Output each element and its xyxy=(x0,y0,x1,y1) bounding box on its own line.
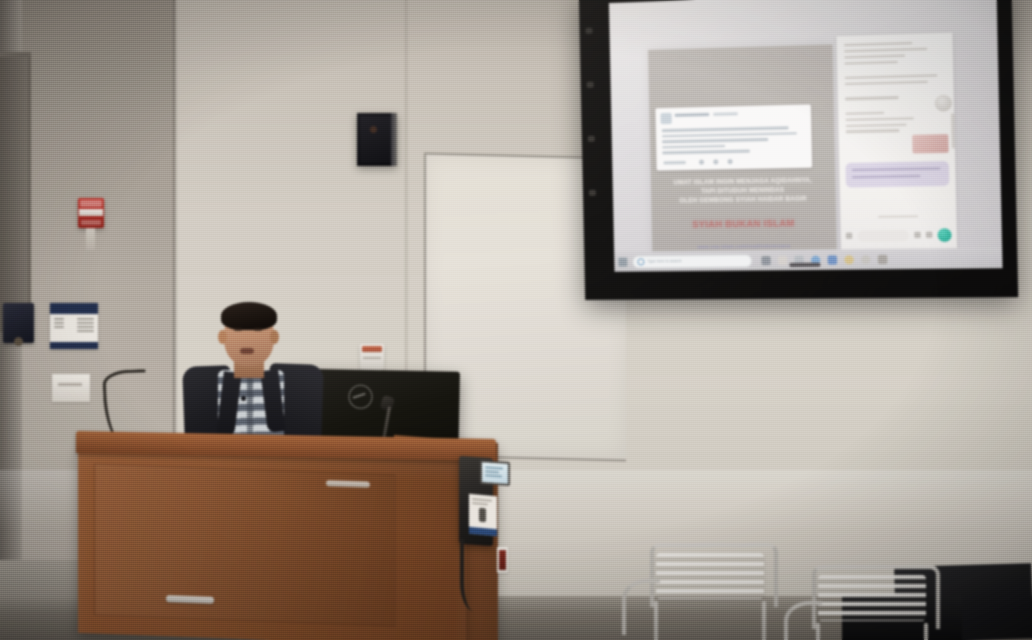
speaker-bracket xyxy=(391,113,397,166)
door-frame-header xyxy=(0,52,30,57)
task-view-icon[interactable] xyxy=(761,256,770,265)
light-switch-plate[interactable] xyxy=(52,374,90,402)
chair-back-slats xyxy=(818,575,926,621)
avatar xyxy=(660,113,671,124)
lavalier-mic-icon xyxy=(241,396,246,401)
post-timestamp xyxy=(664,161,686,164)
device-knob-icon xyxy=(14,337,23,346)
eye-left xyxy=(234,328,242,331)
post-author-name xyxy=(675,113,710,117)
projection-screen: UMAT ISLAM INGIN MENJAGA AQIDAHNYA, TAPI… xyxy=(579,0,1018,300)
chat-message-input[interactable] xyxy=(857,229,909,241)
screen-mount-clip xyxy=(588,136,595,142)
switch-rocker-icon xyxy=(58,383,82,386)
post-body-text xyxy=(662,126,804,154)
app-icon[interactable] xyxy=(861,254,871,263)
post-author-handle xyxy=(713,112,738,116)
attach-icon[interactable] xyxy=(914,232,920,238)
search-icon xyxy=(637,258,644,265)
fire-alarm-top-label xyxy=(80,200,102,207)
fire-alarm-pull-bar xyxy=(79,209,103,216)
wooden-lectern xyxy=(76,435,496,640)
projected-slide: UMAT ISLAM INGIN MENJAGA AQIDAHNYA, TAPI… xyxy=(648,44,837,259)
sign-header-bar xyxy=(50,303,98,314)
chat-scrollbar[interactable] xyxy=(951,113,955,148)
windows-taskbar[interactable]: Type here to search xyxy=(614,247,1002,271)
desk-equipment-box xyxy=(360,344,384,370)
taskbar-icon-strip[interactable] xyxy=(761,254,887,264)
sign-column-right xyxy=(77,318,94,339)
contact-avatar xyxy=(935,95,952,112)
chair-leg xyxy=(924,623,928,640)
sign-column-left xyxy=(54,318,71,339)
store-icon[interactable] xyxy=(828,255,838,264)
equipment-seam xyxy=(363,357,381,359)
presentation-room-photo: UMAT ISLAM INGIN MENJAGA AQIDAHNYA, TAPI… xyxy=(0,0,1032,640)
screen-mount-clip xyxy=(589,190,596,196)
speaker-grille xyxy=(360,116,391,163)
social-post-card xyxy=(655,104,812,170)
fire-alarm-bottom-label xyxy=(81,220,101,225)
chat-message-list xyxy=(844,41,944,133)
like-icon xyxy=(727,159,732,164)
lcd-touch-panel[interactable] xyxy=(480,460,510,486)
fire-alarm-pull-station-icon[interactable] xyxy=(78,198,104,228)
sign-footer-bar xyxy=(50,342,98,349)
post-action-row xyxy=(663,159,732,165)
slide-caption: UMAT ISLAM INGIN MENJAGA AQIDAHNYA, TAPI… xyxy=(653,176,834,206)
sign-text-rows xyxy=(54,318,94,339)
equipment-top-label xyxy=(362,346,382,352)
search-placeholder: Type here to search xyxy=(647,259,681,263)
chat-app-panel xyxy=(836,33,957,252)
ear-right xyxy=(270,330,279,344)
retweet-icon xyxy=(713,159,718,164)
screen-surface: UMAT ISLAM INGIN MENJAGA AQIDAHNYA, TAPI… xyxy=(609,0,1003,272)
camera-icon[interactable] xyxy=(926,232,933,238)
folder-icon[interactable] xyxy=(778,255,787,264)
taskbar-search-input[interactable]: Type here to search xyxy=(632,254,752,268)
chrome-icon[interactable] xyxy=(844,255,854,264)
instructions-placard xyxy=(469,494,497,536)
speaker-indicator-icon xyxy=(370,126,377,133)
image-attachment[interactable] xyxy=(912,134,948,153)
mouth xyxy=(240,348,254,354)
chat-message-bubble xyxy=(845,161,949,188)
emoji-icon[interactable] xyxy=(846,233,852,239)
fire-alarm-conduit xyxy=(86,228,95,250)
start-button-icon[interactable] xyxy=(618,257,627,266)
placard-diagram-icon xyxy=(479,508,486,523)
chair-leg xyxy=(816,623,820,640)
pinned-icon[interactable] xyxy=(878,254,888,263)
door-frame xyxy=(0,52,31,332)
ceiling-speaker xyxy=(357,113,397,166)
screen-mount-clip xyxy=(585,28,592,34)
hair xyxy=(221,302,277,330)
chair-leg xyxy=(762,601,766,640)
ear-left xyxy=(218,330,227,344)
wall-mounted-device[interactable] xyxy=(3,303,34,343)
chair-leg xyxy=(654,601,658,640)
chat-input-row[interactable] xyxy=(846,225,952,245)
chair-back-slats xyxy=(656,553,764,599)
chat-date-divider xyxy=(878,215,918,218)
red-power-outlet[interactable] xyxy=(497,547,508,573)
send-icon[interactable] xyxy=(938,228,952,242)
screen-mount-clip xyxy=(587,82,594,88)
reply-icon xyxy=(699,160,704,165)
eye-right xyxy=(254,328,262,331)
dell-logo-icon xyxy=(348,385,372,409)
lectern-inset-panel xyxy=(94,463,396,626)
slide-caption-line-3: OLEH GEMBONG SYIAH HAIDAR BAGIR xyxy=(653,194,834,206)
slide-headline-red: SYIAH BUKAN ISLAM xyxy=(662,211,827,236)
screen-brand-logo xyxy=(789,263,820,267)
room-schedule-sign xyxy=(50,303,98,349)
